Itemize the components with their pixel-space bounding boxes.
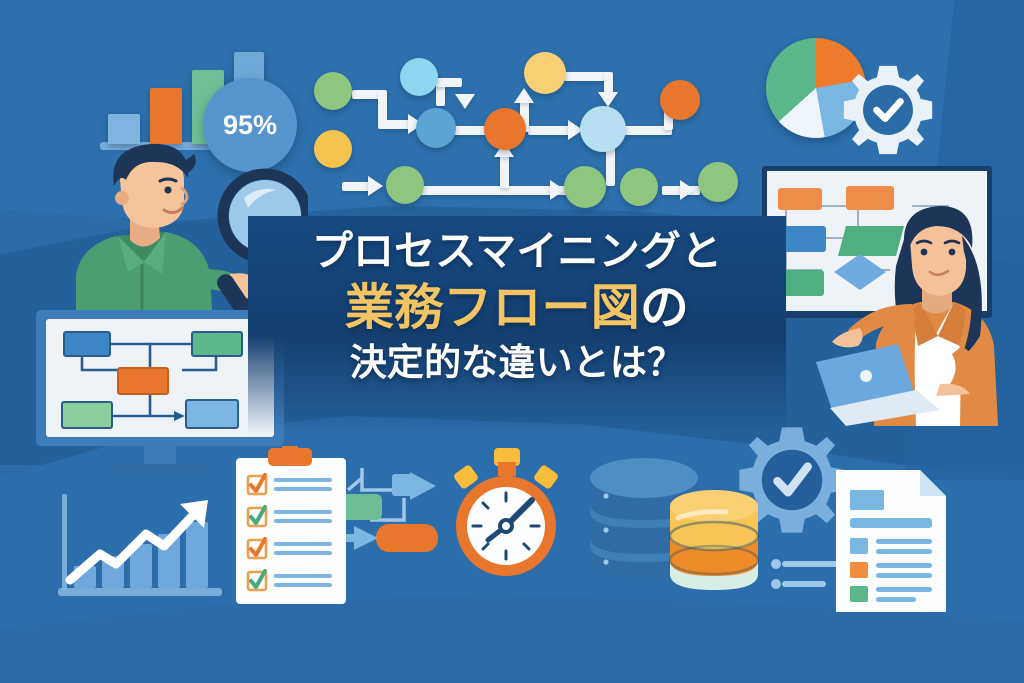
document-leader-lines	[770, 554, 840, 594]
growth-trend-chart	[48, 488, 238, 610]
flow-node	[314, 130, 352, 168]
report-document	[832, 468, 950, 614]
database-orange	[668, 488, 760, 592]
mid-process-shapes	[340, 462, 460, 572]
flow-node	[524, 52, 566, 94]
flow-link	[378, 120, 410, 129]
flow-node	[386, 166, 424, 204]
flow-arrow-icon	[680, 180, 695, 200]
flow-node	[416, 108, 456, 148]
flow-arrow-icon	[598, 92, 618, 107]
stopwatch-icon	[444, 448, 568, 580]
flow-node	[314, 72, 352, 110]
title-highlight: 業務フロー図	[345, 281, 640, 335]
page-title: プロセスマイニングと 業務フロー図の 決定的な違いとは？	[252, 228, 782, 385]
flow-node	[484, 108, 526, 150]
gear-check-top-icon	[840, 62, 936, 158]
flow-arrow-icon	[455, 94, 475, 109]
title-line-1: プロセスマイニングと	[252, 228, 782, 276]
flow-arrow-icon	[514, 88, 534, 103]
flow-link	[436, 78, 462, 87]
flow-link	[528, 126, 570, 135]
flow-node	[620, 168, 658, 206]
flow-node	[698, 162, 738, 202]
flow-link	[378, 90, 387, 124]
title-line-2: 業務フロー図の	[252, 280, 782, 337]
checklist-clipboard	[232, 446, 352, 608]
banner-canvas: 95%	[0, 0, 1024, 683]
flow-node	[564, 166, 606, 208]
flow-node	[580, 106, 626, 152]
presenter-with-laptop	[812, 196, 1024, 426]
title-line-2-tail: の	[640, 281, 689, 335]
flow-link	[342, 182, 370, 191]
title-line-3: 決定的な違いとは？	[252, 342, 782, 385]
flow-arrow-icon	[550, 180, 565, 200]
process-flow-network	[312, 50, 732, 220]
flow-node	[660, 80, 700, 120]
flow-arrow-icon	[368, 176, 383, 196]
flow-node	[400, 58, 438, 96]
flow-link	[500, 154, 509, 188]
